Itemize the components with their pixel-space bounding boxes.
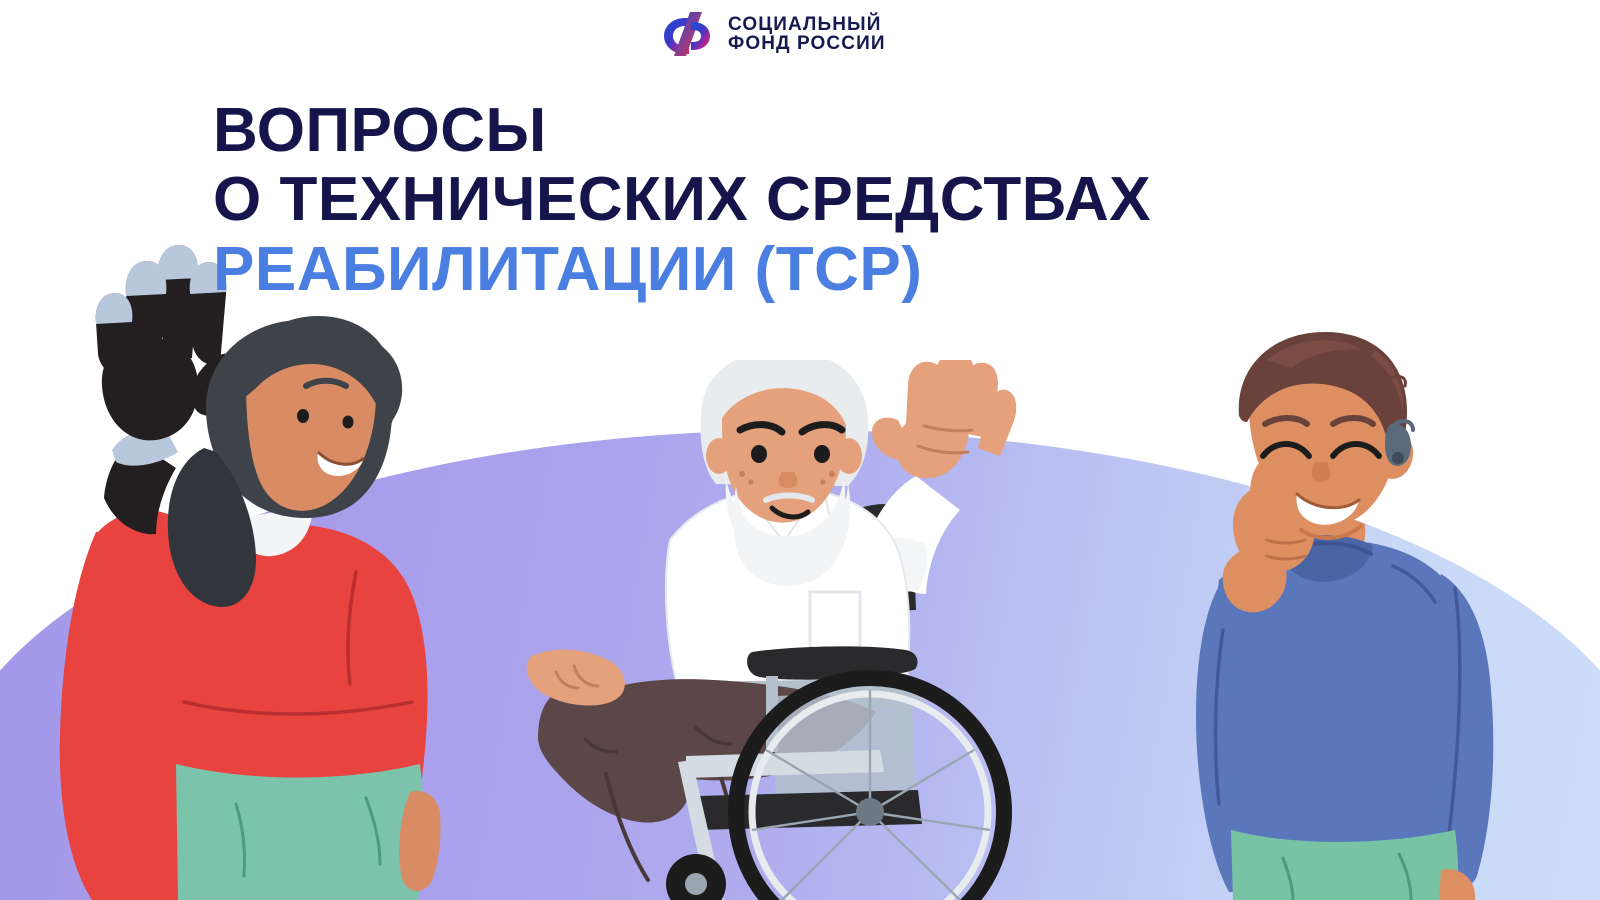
poster-canvas: СОЦИАЛЬНЫЙ ФОНД РОССИИ ВОПРОСЫ О ТЕХНИЧЕ…	[0, 0, 1600, 900]
figure-woman-with-prosthetic-arm	[0, 236, 520, 900]
sfr-emblem-icon	[660, 10, 716, 58]
figure-young-man-with-hearing-aid	[1155, 330, 1555, 900]
brand-logo: СОЦИАЛЬНЫЙ ФОНД РОССИИ	[660, 10, 886, 58]
headline-line-3: РЕАБИЛИТАЦИИ (ТСР)	[213, 235, 1151, 304]
figure-elderly-man-in-wheelchair	[520, 360, 1080, 900]
headline-line-1: ВОПРОСЫ	[213, 96, 1151, 165]
headline-line-2: О ТЕХНИЧЕСКИХ СРЕДСТВАХ	[213, 165, 1151, 234]
brand-line-1: СОЦИАЛЬНЫЙ	[728, 15, 886, 34]
page-title: ВОПРОСЫ О ТЕХНИЧЕСКИХ СРЕДСТВАХ РЕАБИЛИТ…	[213, 96, 1151, 304]
brand-line-2: ФОНД РОССИИ	[728, 34, 886, 53]
brand-logo-text: СОЦИАЛЬНЫЙ ФОНД РОССИИ	[728, 15, 886, 54]
